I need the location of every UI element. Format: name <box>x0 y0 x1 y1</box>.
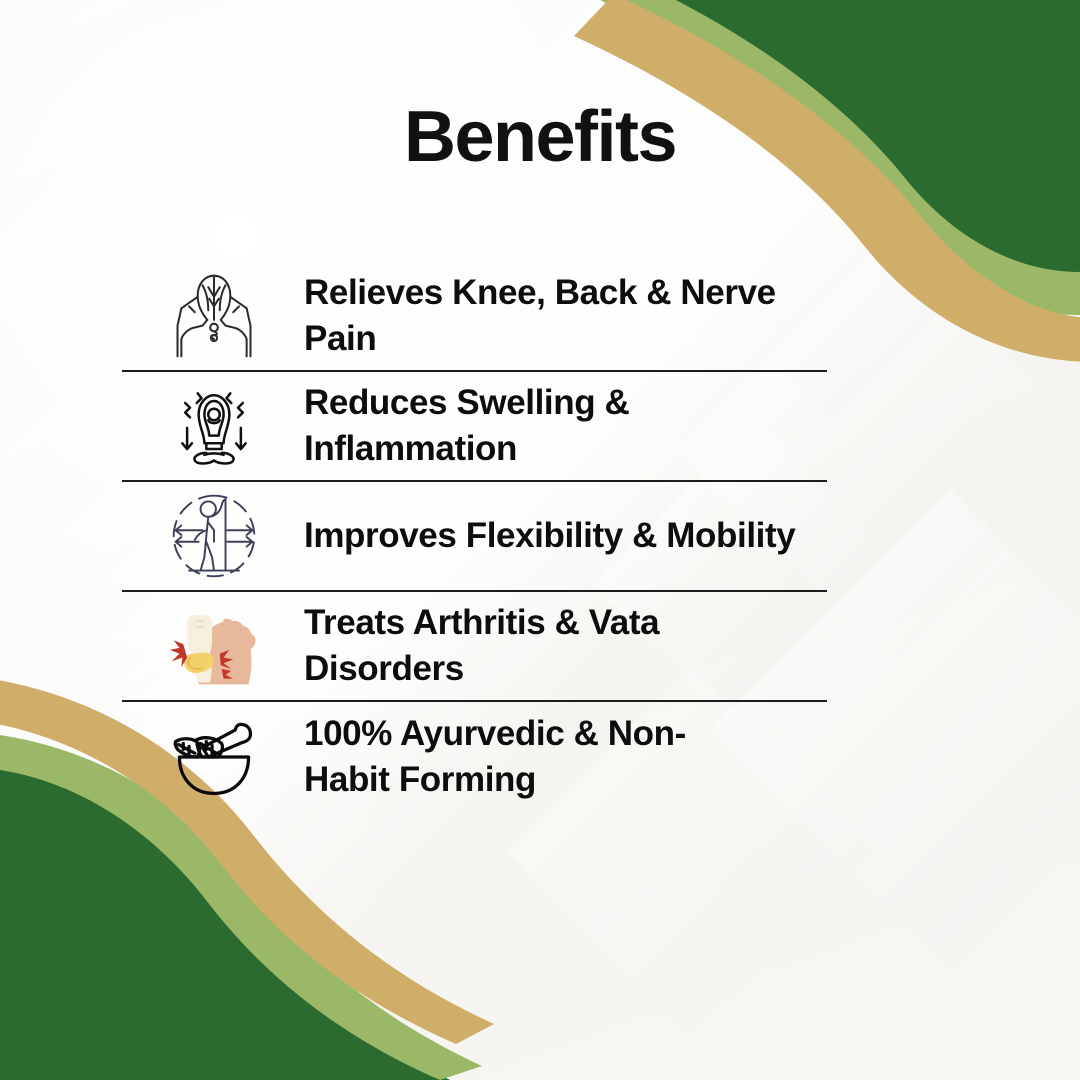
benefit-row: Improves Flexibility & Mobility <box>122 482 827 592</box>
benefit-label: Improves Flexibility & Mobility <box>304 513 795 559</box>
benefit-row: 100% Ayurvedic & Non- Habit Forming <box>122 702 958 812</box>
arthritic-foot-icon <box>164 596 264 696</box>
benefit-row: Treats Arthritis & Vata Disorders <box>122 592 827 702</box>
stretching-person-icon <box>164 486 264 586</box>
benefits-poster: Benefits <box>0 0 1080 1080</box>
benefits-list: Relieves Knee, Back & Nerve Pain <box>122 262 958 812</box>
benefit-row: Reduces Swelling & Inflammation <box>122 372 827 482</box>
mortar-pestle-herbs-icon <box>164 707 264 807</box>
page-title: Benefits <box>0 96 1080 178</box>
benefit-row: Relieves Knee, Back & Nerve Pain <box>122 262 827 372</box>
benefit-label: Relieves Knee, Back & Nerve Pain <box>304 270 827 362</box>
benefit-label: 100% Ayurvedic & Non- Habit Forming <box>304 711 686 803</box>
meditating-person-icon <box>164 376 264 476</box>
benefit-label: Reduces Swelling & Inflammation <box>304 380 827 472</box>
benefit-label: Treats Arthritis & Vata Disorders <box>304 600 827 692</box>
back-spine-pain-icon <box>164 266 264 366</box>
